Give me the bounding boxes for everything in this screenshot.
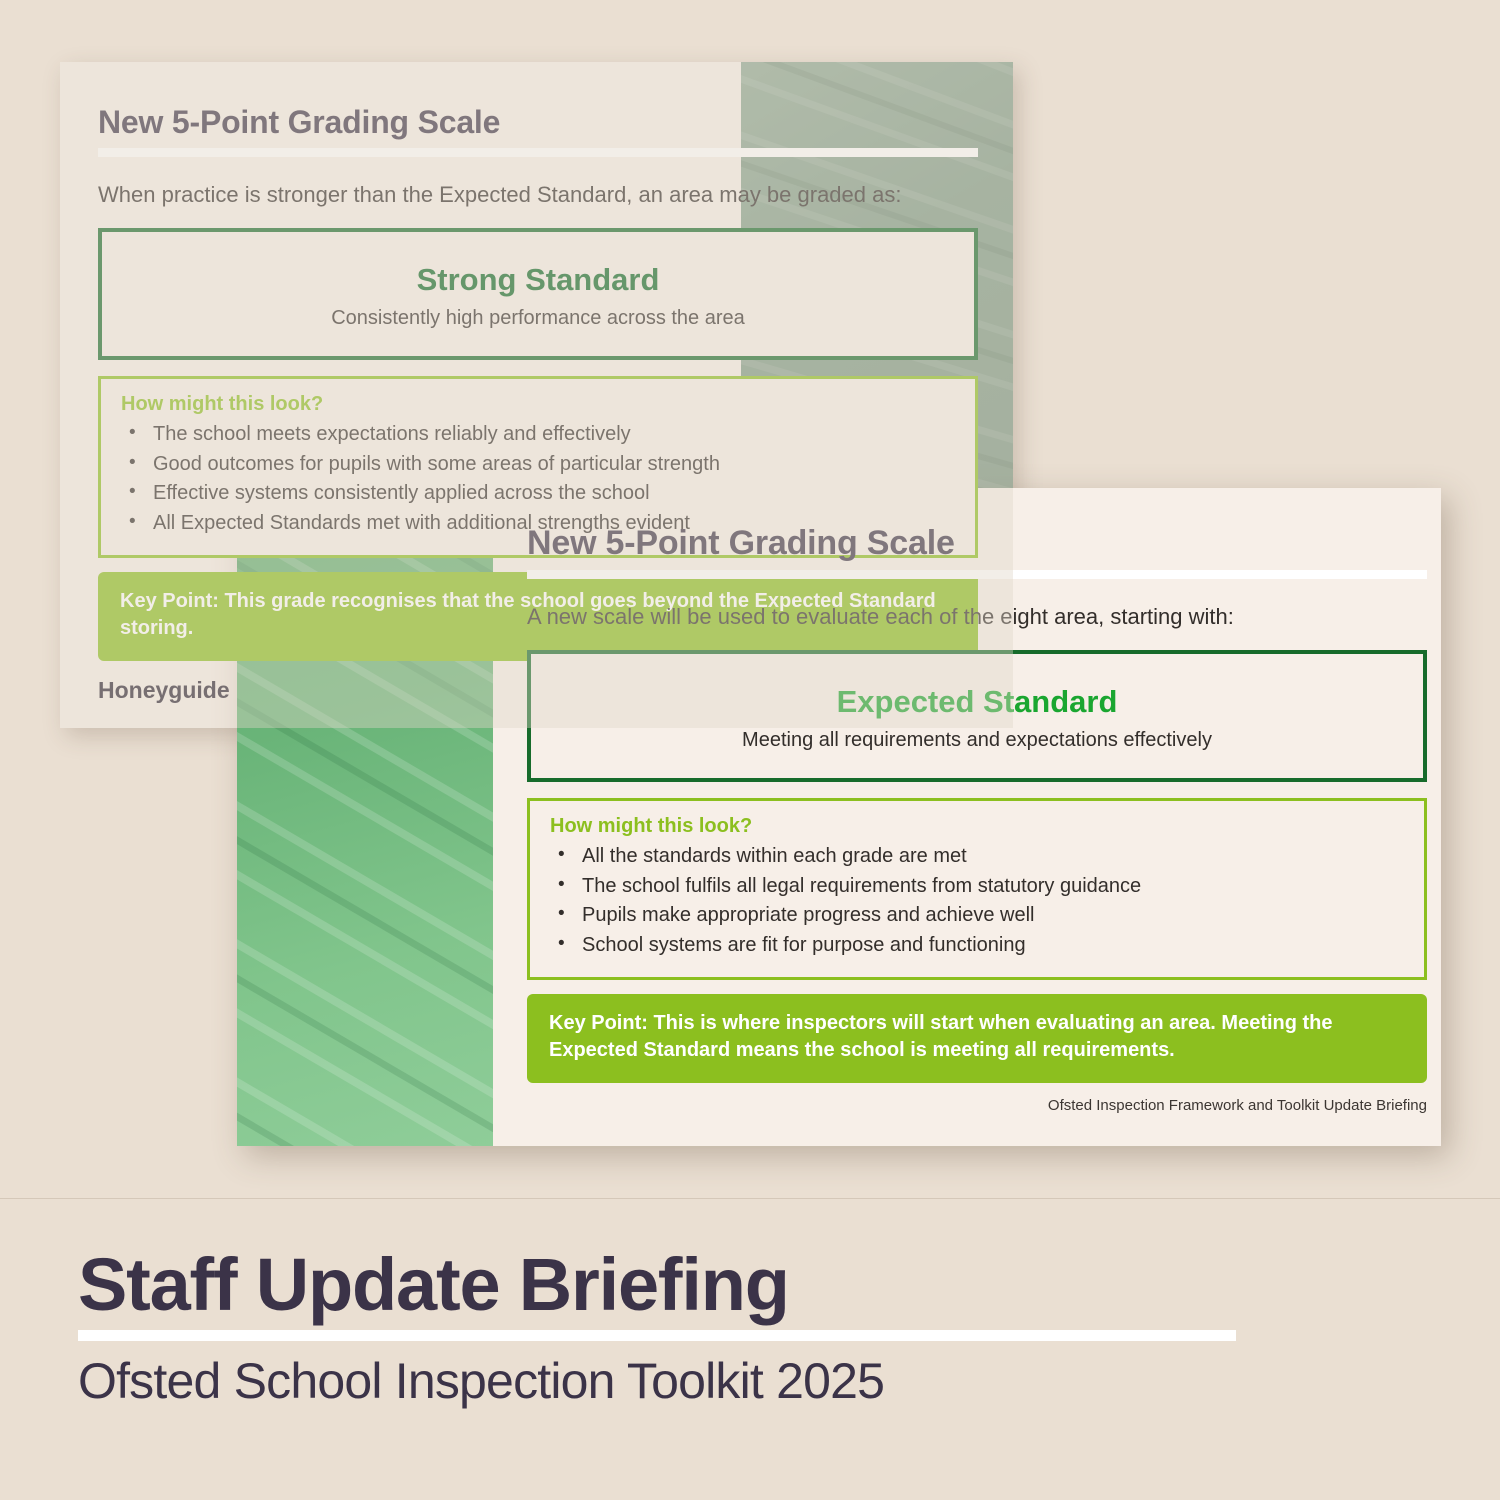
slide-front-title: New 5-Point Grading Scale: [527, 524, 1427, 563]
banner-title-rule: [78, 1330, 1236, 1341]
slide-front-key-point-banner: Key Point: This is where inspectors will…: [527, 994, 1427, 1083]
slide-back-title: New 5-Point Grading Scale: [98, 104, 978, 141]
poster-canvas: New 5-Point Grading Scale When practice …: [0, 0, 1500, 1500]
slide-front-title-rule: [527, 570, 1427, 579]
list-item: Effective systems consistently applied a…: [121, 479, 955, 509]
slide-back-grade-callout: Strong Standard Consistently high perfor…: [98, 228, 978, 360]
slide-back-look-heading: How might this look?: [121, 393, 955, 416]
slide-front-how-might-this-look-box: How might this look? All the standards w…: [527, 798, 1427, 979]
bottom-title-banner: Staff Update Briefing Ofsted School Insp…: [0, 1198, 1500, 1500]
slide-front-grade-subtitle: Meeting all requirements and expectation…: [541, 729, 1413, 752]
slide-back-grade-name: Strong Standard: [112, 262, 964, 298]
list-item: Pupils make appropriate progress and ach…: [550, 901, 1404, 931]
list-item: The school fulfils all legal requirement…: [550, 872, 1404, 902]
slide-back-look-list: The school meets expectations reliably a…: [121, 420, 955, 538]
banner-subtitle: Ofsted School Inspection Toolkit 2025: [78, 1355, 1440, 1408]
slide-front-look-heading: How might this look?: [550, 815, 1404, 838]
list-item: School systems are fit for purpose and f…: [550, 931, 1404, 961]
list-item: Good outcomes for pupils with some areas…: [121, 450, 955, 480]
slide-front-grade-callout: Expected Standard Meeting all requiremen…: [527, 650, 1427, 782]
list-item: All the standards within each grade are …: [550, 842, 1404, 872]
banner-text-block: Staff Update Briefing Ofsted School Insp…: [78, 1247, 1440, 1408]
slide-front-footnote: Ofsted Inspection Framework and Toolkit …: [527, 1097, 1427, 1114]
banner-title: Staff Update Briefing: [78, 1247, 1440, 1322]
slide-back-grade-subtitle: Consistently high performance across the…: [112, 307, 964, 330]
slide-back-title-rule: [98, 148, 978, 157]
slide-front-lead-text: A new scale will be used to evaluate eac…: [527, 601, 1427, 632]
list-item: The school meets expectations reliably a…: [121, 420, 955, 450]
slide-front-grade-name: Expected Standard: [541, 684, 1413, 720]
slide-back-lead-text: When practice is stronger than the Expec…: [98, 179, 978, 210]
slide-front-content: New 5-Point Grading Scale A new scale wi…: [527, 524, 1427, 1114]
slide-front-look-list: All the standards within each grade are …: [550, 842, 1404, 960]
